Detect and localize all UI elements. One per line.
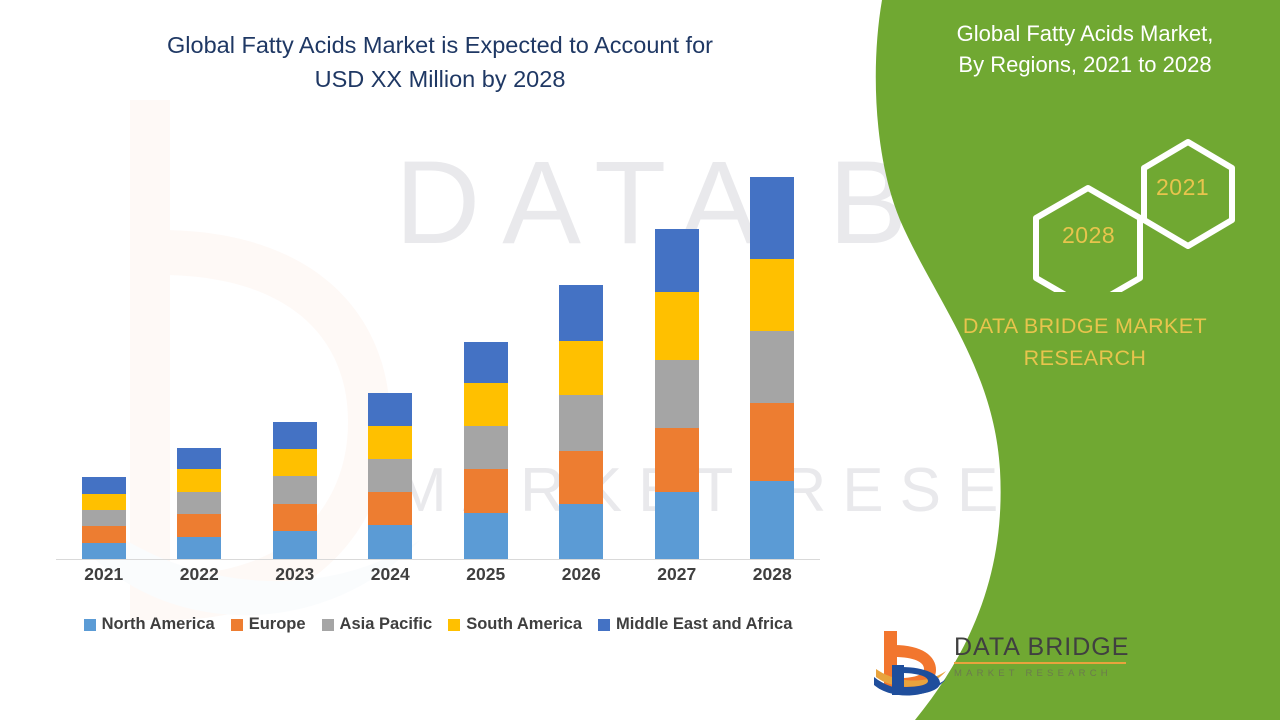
x-axis-label-2023: 2023	[247, 564, 342, 585]
bar-column-2024[interactable]	[343, 150, 438, 559]
stacked-bar[interactable]	[559, 285, 603, 559]
bar-segment[interactable]	[750, 177, 794, 260]
bar-segment[interactable]	[273, 476, 317, 504]
bar-column-2027[interactable]	[629, 150, 724, 559]
hexagon-label-2021: 2021	[1156, 174, 1209, 201]
brand-name-line-2: RESEARCH	[895, 342, 1275, 374]
bar-segment[interactable]	[559, 395, 603, 450]
bar-column-2022[interactable]	[152, 150, 247, 559]
bar-segment[interactable]	[177, 492, 221, 514]
legend-item-europe[interactable]: Europe	[231, 615, 306, 634]
bar-segment[interactable]	[655, 428, 699, 491]
bar-segment[interactable]	[368, 426, 412, 459]
hexagon-group: 2021 2028	[940, 132, 1260, 292]
panel-content: Global Fatty Acids Market, By Regions, 2…	[840, 0, 1280, 720]
chart-title-line-2: USD XX Million by 2028	[90, 62, 790, 96]
stacked-bar[interactable]	[177, 448, 221, 559]
bar-segment[interactable]	[273, 531, 317, 559]
bar-segment[interactable]	[82, 494, 126, 510]
bar-segment[interactable]	[82, 543, 126, 559]
x-axis-label-2024: 2024	[343, 564, 438, 585]
hexagon-outlines	[940, 132, 1260, 292]
x-axis-label-2028: 2028	[725, 564, 820, 585]
legend-label: South America	[466, 615, 582, 634]
bar-column-2025[interactable]	[438, 150, 533, 559]
bar-segment[interactable]	[559, 451, 603, 504]
bar-segment[interactable]	[559, 341, 603, 395]
x-axis-tick-labels: 20212022202320242025202620272028	[56, 564, 820, 596]
legend-swatch-icon	[322, 619, 334, 631]
legend-swatch-icon	[84, 619, 96, 631]
bar-column-2028[interactable]	[725, 150, 820, 559]
bar-segment[interactable]	[177, 469, 221, 491]
bar-group	[56, 150, 820, 559]
stacked-bar[interactable]	[750, 177, 794, 559]
x-axis-label-2026: 2026	[534, 564, 629, 585]
bar-segment[interactable]	[750, 403, 794, 482]
bar-segment[interactable]	[82, 510, 126, 526]
infographic-canvas: DATA BRIDGE MARKET RESEARCH Global Fatty…	[0, 0, 1280, 720]
bar-segment[interactable]	[464, 513, 508, 559]
x-axis-label-2025: 2025	[438, 564, 533, 585]
chart-title-line-1: Global Fatty Acids Market is Expected to…	[90, 28, 790, 62]
x-axis-label-2022: 2022	[152, 564, 247, 585]
bar-segment[interactable]	[82, 477, 126, 493]
bar-segment[interactable]	[655, 229, 699, 292]
logo-divider	[954, 662, 1126, 664]
bar-segment[interactable]	[655, 292, 699, 359]
bar-segment[interactable]	[177, 537, 221, 559]
bar-segment[interactable]	[464, 383, 508, 426]
data-bridge-logo-icon	[870, 625, 950, 697]
bar-column-2023[interactable]	[247, 150, 342, 559]
bar-segment[interactable]	[82, 526, 126, 542]
brand-name: DATA BRIDGE MARKET RESEARCH	[895, 310, 1275, 374]
legend-item-south-america[interactable]: South America	[448, 615, 582, 634]
legend-item-north-america[interactable]: North America	[84, 615, 215, 634]
logo-title: DATA BRIDGE	[954, 633, 1130, 661]
bar-segment[interactable]	[464, 426, 508, 469]
legend-swatch-icon	[231, 619, 243, 631]
brand-name-line-1: DATA BRIDGE MARKET	[895, 310, 1275, 342]
stacked-bar[interactable]	[273, 422, 317, 559]
bar-segment[interactable]	[464, 342, 508, 383]
branding-panel: Global Fatty Acids Market, By Regions, 2…	[840, 0, 1280, 720]
bar-segment[interactable]	[750, 331, 794, 403]
bar-segment[interactable]	[750, 481, 794, 559]
stacked-bar[interactable]	[368, 393, 412, 559]
bar-segment[interactable]	[655, 360, 699, 429]
chart-legend: North AmericaEuropeAsia PacificSouth Ame…	[56, 615, 820, 634]
x-axis-label-2021: 2021	[56, 564, 151, 585]
stacked-bar[interactable]	[655, 229, 699, 559]
bar-segment[interactable]	[368, 393, 412, 426]
legend-swatch-icon	[598, 619, 610, 631]
legend-item-middle-east-and-africa[interactable]: Middle East and Africa	[598, 615, 792, 634]
bar-segment[interactable]	[273, 449, 317, 477]
logo-subtitle: MARKET RESEARCH	[954, 668, 1130, 680]
bar-segment[interactable]	[559, 285, 603, 341]
bar-segment[interactable]	[273, 422, 317, 449]
bar-segment[interactable]	[750, 259, 794, 331]
panel-title: Global Fatty Acids Market, By Regions, 2…	[900, 18, 1270, 80]
chart-plot-area	[56, 150, 820, 560]
stacked-bar[interactable]	[82, 477, 126, 559]
bar-segment[interactable]	[655, 492, 699, 559]
legend-label: North America	[102, 615, 215, 634]
bar-segment[interactable]	[464, 469, 508, 513]
logo-wordmark: DATA BRIDGE MARKET RESEARCH	[954, 633, 1130, 680]
hexagon-label-2028: 2028	[1062, 222, 1115, 249]
bar-segment[interactable]	[559, 504, 603, 559]
legend-label: Europe	[249, 615, 306, 634]
x-axis-label-2027: 2027	[629, 564, 724, 585]
panel-title-line-2: By Regions, 2021 to 2028	[900, 49, 1270, 80]
bar-segment[interactable]	[368, 525, 412, 559]
chart-title: Global Fatty Acids Market is Expected to…	[90, 28, 790, 96]
x-axis-line	[56, 559, 820, 560]
bar-segment[interactable]	[368, 459, 412, 492]
bar-column-2026[interactable]	[534, 150, 629, 559]
bar-column-2021[interactable]	[56, 150, 151, 559]
bar-segment[interactable]	[177, 514, 221, 536]
legend-item-asia-pacific[interactable]: Asia Pacific	[322, 615, 433, 634]
panel-title-line-1: Global Fatty Acids Market,	[900, 18, 1270, 49]
company-logo: DATA BRIDGE MARKET RESEARCH	[870, 625, 1130, 697]
legend-swatch-icon	[448, 619, 460, 631]
bar-segment[interactable]	[368, 492, 412, 526]
bar-segment[interactable]	[177, 448, 221, 469]
bar-segment[interactable]	[273, 504, 317, 532]
legend-label: Middle East and Africa	[616, 615, 792, 634]
stacked-bar[interactable]	[464, 342, 508, 559]
legend-label: Asia Pacific	[340, 615, 433, 634]
